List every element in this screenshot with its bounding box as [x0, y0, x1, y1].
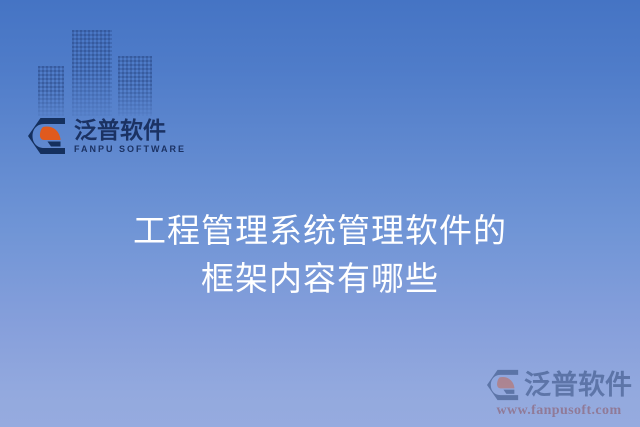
logo-name-cn: 泛普软件 — [74, 119, 186, 142]
dotted-building-skyline-icon — [38, 28, 156, 116]
company-logo-wordmark: 泛普软件 FANPU SOFTWARE — [74, 119, 186, 154]
logo-name-en: FANPU SOFTWARE — [74, 145, 186, 154]
watermark-name-cn: 泛普软件 — [524, 372, 632, 399]
page-title-line-1: 工程管理系统管理软件的 — [0, 208, 640, 256]
watermark-logo: 泛普软件 — [486, 369, 632, 401]
skyline-building-center — [72, 30, 112, 116]
banner-image: 泛普软件 FANPU SOFTWARE 工程管理系统管理软件的 框架内容有哪些 … — [0, 0, 640, 427]
watermark-url: www.fanpusoft.com — [496, 403, 621, 419]
page-title-line-2: 框架内容有哪些 — [0, 256, 640, 304]
watermark: 泛普软件 www.fanpusoft.com — [486, 369, 632, 419]
page-title: 工程管理系统管理软件的 框架内容有哪些 — [0, 208, 640, 304]
company-logo: 泛普软件 FANPU SOFTWARE — [27, 117, 186, 155]
skyline-building-left — [38, 66, 64, 116]
fanpu-logo-mark-watermark-icon — [486, 369, 520, 401]
skyline-building-right — [118, 56, 152, 116]
fanpu-logo-mark-icon — [27, 117, 67, 155]
